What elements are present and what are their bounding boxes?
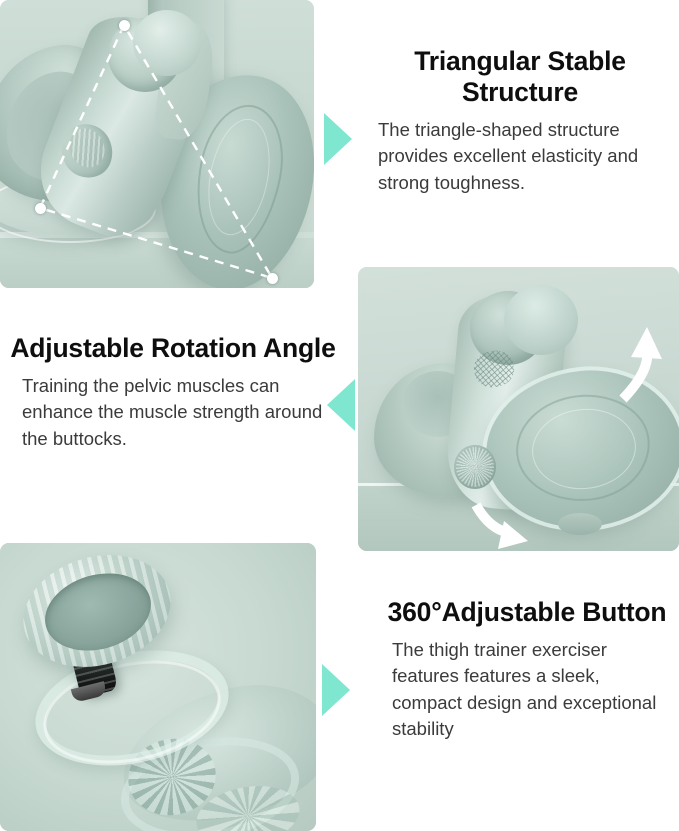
product-photo-1 <box>0 0 314 288</box>
pointer-triangle-right-feature-1 <box>324 113 352 165</box>
feature-text-adjustable-rotation-angle: Adjustable Rotation Angle Training the p… <box>8 333 338 452</box>
feature-heading: Triangular Stable Structure <box>372 46 668 108</box>
rotation-arrows <box>358 267 679 551</box>
triangle-vertex-top <box>119 20 130 31</box>
feature-image-adjustable-rotation-angle <box>358 267 679 551</box>
feature-text-triangular-stable-structure: Triangular Stable Structure The triangle… <box>372 46 668 196</box>
product-photo-3 <box>0 543 316 831</box>
rotation-arrow-upper-head <box>631 327 662 359</box>
dashed-triangle-path <box>40 25 272 278</box>
feature-heading: 360°Adjustable Button <box>384 597 670 628</box>
feature-body: The triangle-shaped structure provides e… <box>372 117 668 196</box>
feature-image-triangular-stable-structure <box>0 0 314 288</box>
triangle-vertex-left <box>35 203 46 214</box>
feature-text-360-adjustable-button: 360°Adjustable Button The thigh trainer … <box>384 597 670 742</box>
pointer-triangle-right-feature-3 <box>322 664 350 716</box>
triangle-vertex-right <box>267 273 278 284</box>
feature-body: The thigh trainer exerciser features fea… <box>384 637 670 742</box>
product-photo-2 <box>358 267 679 551</box>
triangle-overlay <box>0 0 314 288</box>
feature-body: Training the pelvic muscles can enhance … <box>8 373 338 452</box>
infographic-stage: Triangular Stable Structure The triangle… <box>0 0 679 831</box>
feature-image-360-adjustable-button <box>0 543 316 831</box>
feature-heading: Adjustable Rotation Angle <box>8 333 338 364</box>
rotation-arrow-lower-head <box>498 521 528 549</box>
